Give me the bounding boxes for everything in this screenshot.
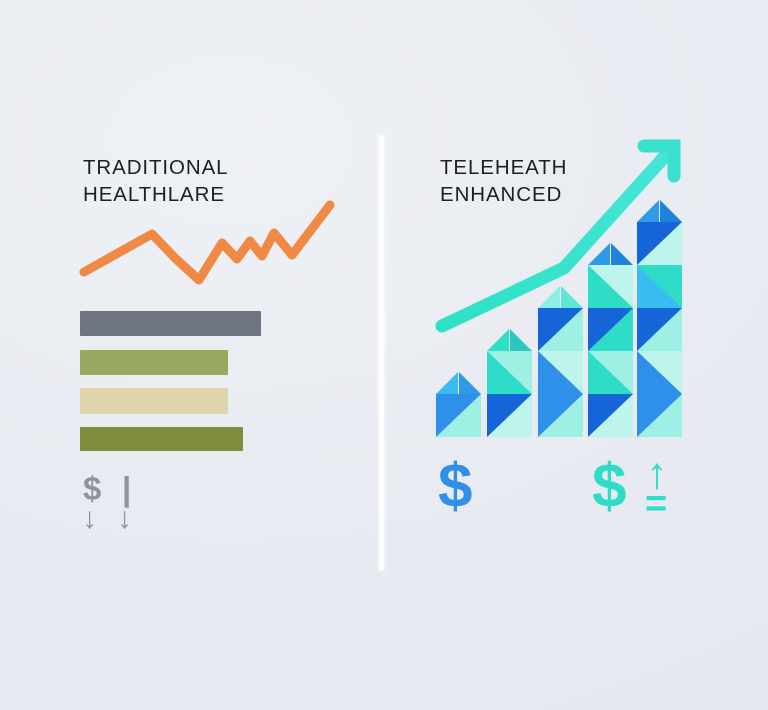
equals-icon: = (645, 485, 667, 523)
infographic-canvas: TRADITIONAL HEALTHLARE $|↓↓ TELEHEATH EN… (0, 0, 768, 710)
growth-arrow-shaft (442, 155, 666, 326)
dollar-sign-icon: $ (438, 456, 472, 518)
dollar-sign-icon: $ (592, 456, 626, 518)
growth-arrow-icon (0, 0, 768, 710)
